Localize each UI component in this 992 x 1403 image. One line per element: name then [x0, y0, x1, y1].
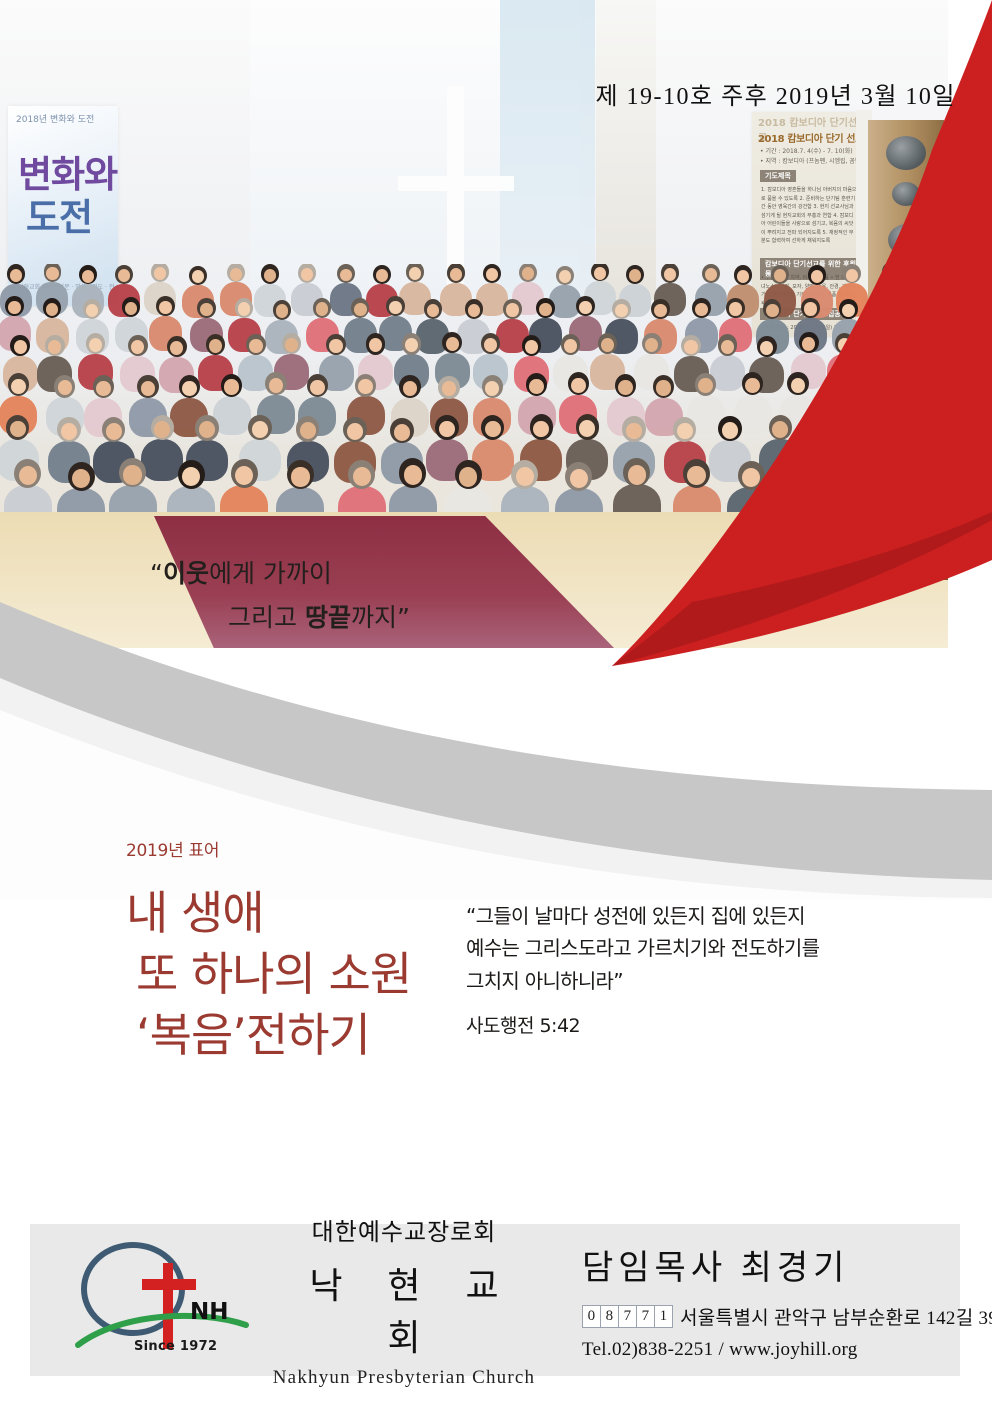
congregation-member-face: [485, 421, 501, 438]
postal-digit: 8: [600, 1305, 619, 1328]
congregation-member-face: [291, 467, 309, 486]
congregation-member-face: [285, 338, 298, 352]
wall-cross-bar: [398, 176, 514, 191]
logo-since: Since 1972: [134, 1339, 217, 1354]
congregation-member-face: [329, 339, 342, 353]
congregation-member-face: [459, 467, 477, 486]
congregation-member-face: [238, 302, 251, 315]
congregation-member-face: [427, 304, 440, 317]
church-address: 08771 서울특별시 관악구 남부순환로 142길 39: [582, 1303, 992, 1330]
congregation-member-face: [486, 268, 498, 281]
congregation-member-face: [230, 268, 242, 281]
congregation-member-face: [224, 379, 238, 394]
congregation-member-face: [123, 465, 141, 484]
congregation-member-face: [86, 304, 99, 317]
banner-left-title: 변화와 도전: [18, 154, 117, 239]
year-motto: 2019년 표어 내 생애 또 하나의 소원 ‘복음’전하기: [126, 836, 411, 1067]
congregation-member-face: [316, 302, 329, 315]
congregation-member-face: [539, 303, 552, 316]
scripture-line-2: 예수는 그리스도라고 가르치기와 전도하기를: [466, 932, 819, 964]
congregation-member-face: [446, 337, 459, 351]
denomination-name: 대한예수교장로회: [254, 1212, 554, 1247]
congregation-member-face: [276, 304, 289, 317]
congregation-member-face: [82, 270, 94, 283]
contact-block: 담임목사 최경기 08771 서울특별시 관악구 남부순환로 142길 39 T…: [582, 1240, 992, 1361]
congregation-member-face: [404, 465, 422, 484]
congregation-member-face: [249, 339, 262, 353]
congregation-member-face: [468, 304, 481, 317]
tel-and-website: Tel.02)838-2251 / www.joyhill.org: [582, 1339, 992, 1361]
postal-digit: 1: [654, 1305, 673, 1328]
congregation-member-face: [376, 269, 388, 282]
congregation-member-face: [10, 269, 22, 282]
congregation-member-face: [450, 268, 462, 281]
congregation-member-face: [516, 467, 534, 486]
congregation-member-face: [484, 338, 497, 352]
congregation-member-face: [403, 381, 417, 396]
banner-left-title-line2: 도전: [26, 197, 117, 240]
church-logo: NH Since 1972: [70, 1241, 260, 1359]
banner-left-subtitle: 2018년 변화와 도전: [16, 114, 94, 126]
scripture-line-3: 그치지 아니하니라”: [466, 965, 819, 997]
logo-cross-icon: [163, 1263, 173, 1349]
scripture-quote: “그들이 날마다 성전에 있든지 집에 있든지 예수는 그리스도라고 가르치기와…: [466, 900, 819, 1038]
congregation-member-face: [72, 469, 90, 488]
congregation-member-face: [347, 423, 363, 440]
motto-label: 2019년 표어: [126, 836, 411, 861]
congregation-member-face: [394, 424, 410, 441]
postal-digit: 7: [618, 1305, 637, 1328]
motto-line-2: 또 하나의 소원: [136, 944, 411, 1005]
congregation-member-face: [46, 267, 58, 280]
congregation-member-face: [96, 381, 110, 396]
congregation-member-face: [61, 423, 77, 440]
congregation-member-face: [154, 267, 166, 280]
congregation-member-face: [14, 340, 27, 354]
congregation-member-face: [300, 422, 316, 439]
issue-date: 제 19-10호 주후 2019년 3월 10일: [595, 76, 956, 111]
congregation-member-face: [235, 466, 253, 485]
congregation-member-face: [200, 303, 213, 316]
church-name: 낙 현 교 회: [272, 1257, 554, 1361]
church-name-english: Nakhyun Presbyterian Church: [254, 1367, 554, 1389]
congregation-member-face: [10, 421, 26, 438]
congregation-member-face: [19, 466, 37, 485]
scripture-reference: 사도행전 5:42: [466, 1011, 819, 1038]
congregation-member-face: [106, 423, 122, 440]
congregation-member-face: [264, 269, 276, 282]
congregation-member-face: [439, 421, 455, 438]
congregation-member-face: [525, 340, 538, 354]
congregation-member-face: [269, 378, 283, 393]
scripture-line-1: “그들이 날마다 성전에 있든지 집에 있든지: [466, 900, 819, 932]
congregation-member-face: [46, 303, 59, 316]
congregation-member-face: [529, 379, 543, 394]
postal-digit: 7: [636, 1305, 655, 1328]
congregation-member-face: [506, 303, 519, 316]
congregation-member-face: [301, 268, 313, 281]
logo-initials: NH: [190, 1299, 229, 1325]
congregation-member-face: [389, 301, 402, 314]
congregation-member-face: [11, 379, 25, 394]
congregation-member-face: [310, 380, 324, 395]
logo-cross-bar-icon: [142, 1279, 196, 1290]
congregation-member-face: [252, 421, 268, 438]
church-identity: 대한예수교장로회 낙 현 교 회 Nakhyun Presbyterian Ch…: [254, 1212, 554, 1389]
congregation-member-face: [409, 267, 421, 280]
footer-bar: NH Since 1972 대한예수교장로회 낙 현 교 회 Nakhyun P…: [30, 1224, 960, 1376]
postal-code: 08771: [582, 1305, 672, 1328]
motto-line-3: ‘복음’전하기: [136, 1005, 411, 1066]
pastor-name: 담임목사 최경기: [582, 1240, 992, 1289]
address-text: 서울특별시 관악구 남부순환로 142길 39: [680, 1303, 992, 1330]
congregation-member-face: [182, 381, 196, 396]
congregation-member-face: [354, 303, 367, 316]
congregation-member-face: [522, 267, 534, 280]
banner-left-title-line1: 변화와: [18, 153, 117, 196]
postal-digit: 0: [582, 1305, 601, 1328]
motto-line-1: 내 생애: [126, 883, 411, 944]
congregation-member-face: [8, 301, 21, 314]
